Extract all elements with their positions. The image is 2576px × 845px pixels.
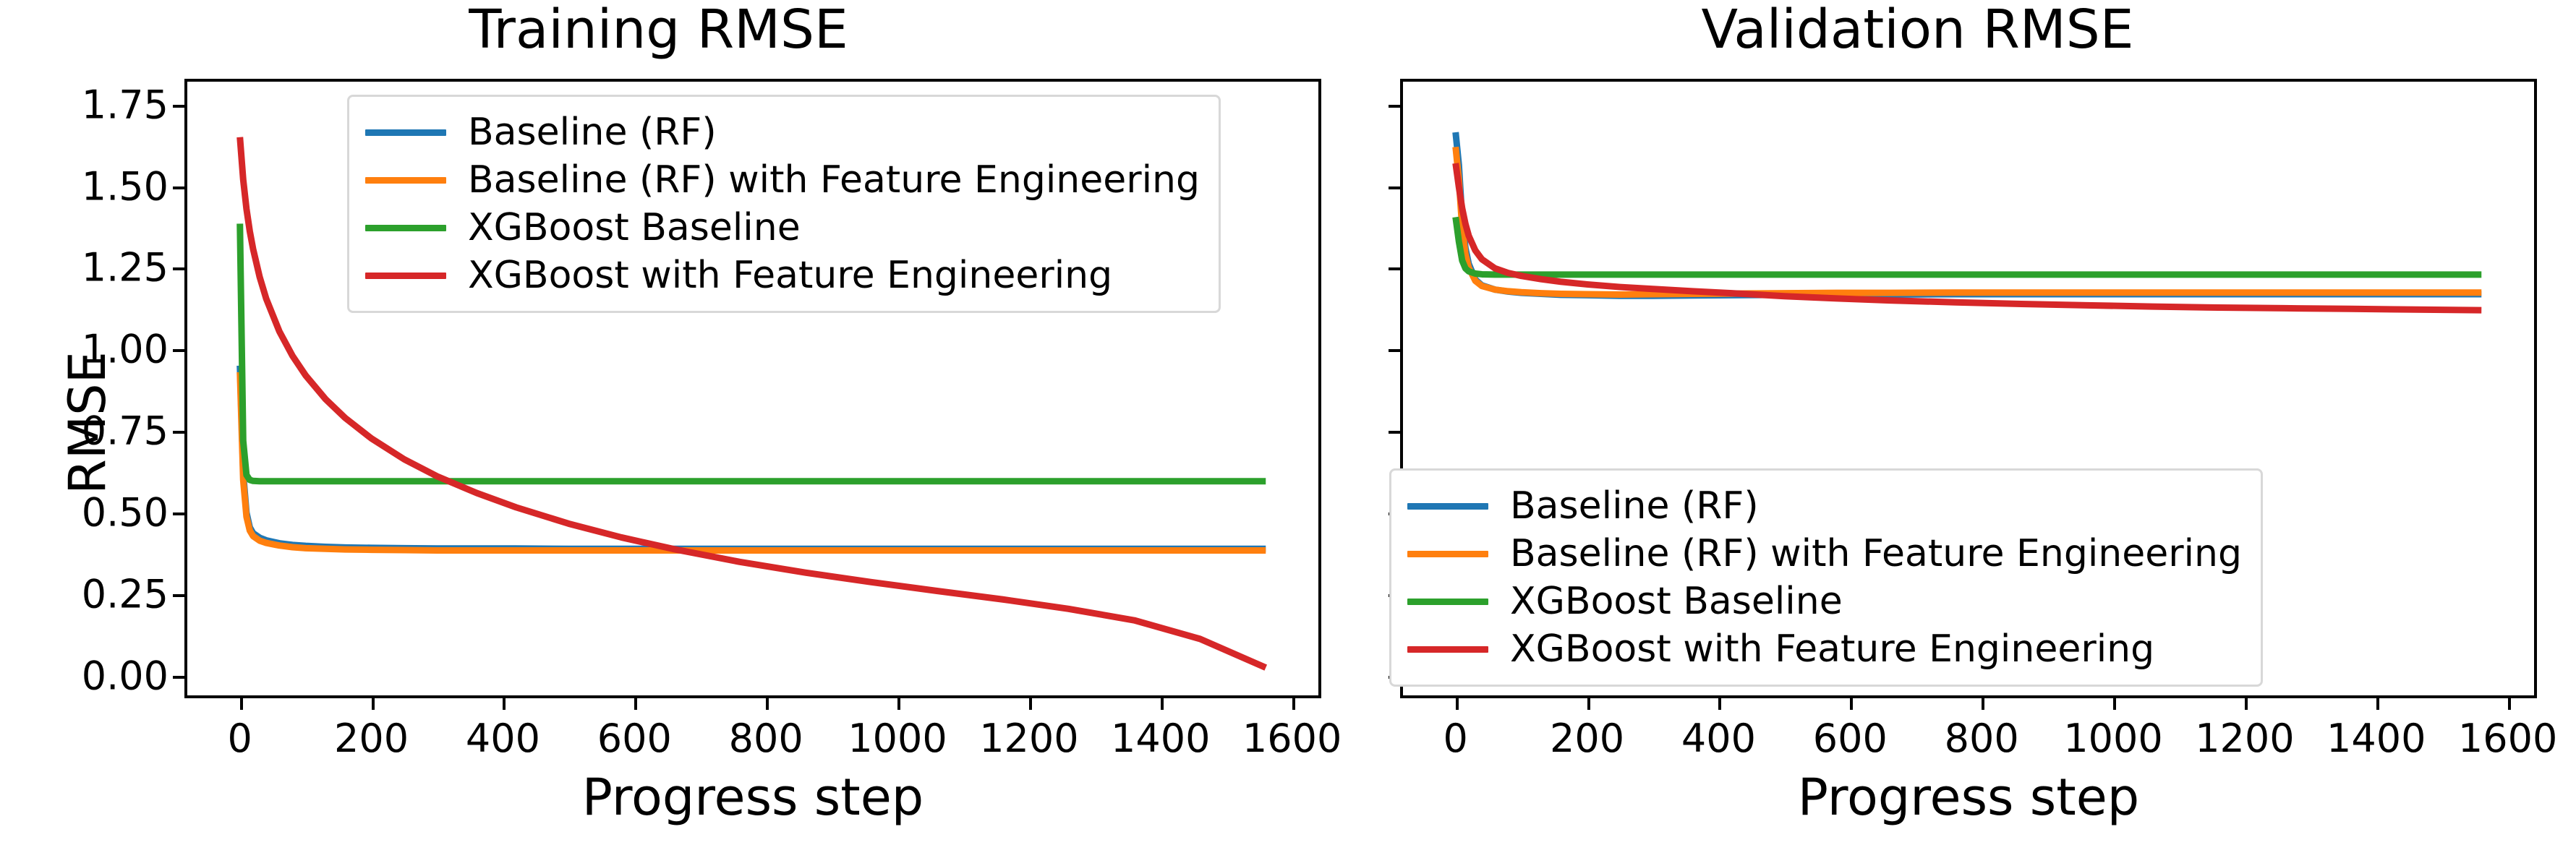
panel-title-validation: Validation RMSE xyxy=(1288,3,2547,56)
y-axis-tick-label: 0.75 xyxy=(82,408,169,454)
y-axis-tick xyxy=(173,512,187,515)
panel-validation: Validation RMSE 020040060080010001200140… xyxy=(1288,0,2576,845)
y-axis-tick xyxy=(173,594,187,597)
x-axis-tick xyxy=(2508,695,2511,710)
legend-entry[interactable]: XGBoost with Feature Engineering xyxy=(1407,625,2242,673)
x-axis-tick-label: 1200 xyxy=(2195,716,2294,761)
y-axis-tick-label: 1.75 xyxy=(82,82,169,127)
series-line xyxy=(1456,163,2482,310)
x-axis-tick xyxy=(1456,695,1459,710)
legend-color-swatch xyxy=(365,177,446,184)
y-axis-tick-label: 0.50 xyxy=(82,490,169,536)
y-axis-tick-label: 1.00 xyxy=(82,327,169,372)
x-axis-tick-label: 200 xyxy=(334,716,409,761)
y-axis-tick-label: 1.50 xyxy=(82,163,169,209)
x-axis-tick-label: 400 xyxy=(1681,716,1756,761)
x-axis-tick-label: 1000 xyxy=(2063,716,2162,761)
x-axis-tick xyxy=(897,695,900,710)
x-axis-tick-label: 1200 xyxy=(979,716,1078,761)
y-axis-tick xyxy=(173,349,187,352)
legend-color-swatch xyxy=(365,129,446,136)
y-axis-tick xyxy=(1389,349,1403,352)
series-line xyxy=(240,366,1266,549)
x-axis-tick xyxy=(1982,695,1984,710)
x-axis-tick-label: 800 xyxy=(1945,716,2019,761)
x-axis-tick-label: 600 xyxy=(597,716,672,761)
y-axis-tick-label: 1.25 xyxy=(82,245,169,291)
y-axis-tick xyxy=(173,267,187,270)
legend-entry[interactable]: Baseline (RF) with Feature Engineering xyxy=(365,156,1200,204)
legend-color-swatch xyxy=(1407,599,1488,605)
x-axis-tick-label: 1400 xyxy=(1111,716,1210,761)
y-axis-tick-label: 0.25 xyxy=(82,572,169,617)
x-axis-tick xyxy=(372,695,375,710)
x-axis-tick xyxy=(240,695,243,710)
legend-entry-label: XGBoost Baseline xyxy=(1510,583,1843,620)
legend-entry-label: XGBoost Baseline xyxy=(468,209,801,246)
x-axis-tick-label: 0 xyxy=(1443,716,1468,761)
x-axis-label-validation: Progress step xyxy=(1400,768,2537,827)
x-axis-tick xyxy=(1161,695,1164,710)
figure-canvas: Training RMSE RMSE 0.000.250.500.751.001… xyxy=(0,0,2576,845)
legend-validation: Baseline (RF)Baseline (RF) with Feature … xyxy=(1389,468,2263,687)
legend-training: Baseline (RF)Baseline (RF) with Feature … xyxy=(347,95,1221,313)
legend-entry-label: XGBoost with Feature Engineering xyxy=(468,257,1112,294)
series-line xyxy=(1456,132,2482,296)
legend-entry[interactable]: XGBoost with Feature Engineering xyxy=(365,252,1200,299)
legend-color-swatch xyxy=(365,225,446,231)
x-axis-tick xyxy=(1029,695,1032,710)
legend-entry-label: Baseline (RF) with Feature Engineering xyxy=(468,161,1200,199)
x-axis-tick-label: 1600 xyxy=(2458,716,2557,761)
y-axis-tick xyxy=(1389,105,1403,108)
x-axis-tick xyxy=(1850,695,1853,710)
y-axis-tick xyxy=(173,676,187,679)
legend-color-swatch xyxy=(1407,503,1488,510)
y-axis-tick xyxy=(173,186,187,189)
legend-entry-label: Baseline (RF) with Feature Engineering xyxy=(1510,535,2242,572)
legend-color-swatch xyxy=(1407,646,1488,653)
y-axis-tick xyxy=(1389,267,1403,270)
x-axis-tick xyxy=(1718,695,1721,710)
legend-entry-label: Baseline (RF) xyxy=(1510,487,1759,525)
legend-entry-label: Baseline (RF) xyxy=(468,113,717,151)
x-axis-tick-label: 1000 xyxy=(848,716,947,761)
y-axis-tick xyxy=(173,431,187,434)
x-axis-tick-label: 0 xyxy=(228,716,252,761)
legend-entry[interactable]: Baseline (RF) with Feature Engineering xyxy=(1407,530,2242,578)
legend-entry[interactable]: XGBoost Baseline xyxy=(365,204,1200,252)
y-axis-tick xyxy=(1389,186,1403,189)
y-axis-tick xyxy=(173,105,187,108)
x-axis-tick-label: 200 xyxy=(1550,716,1624,761)
x-axis-tick xyxy=(766,695,769,710)
y-axis-tick-label: 0.00 xyxy=(82,653,169,698)
x-axis-tick xyxy=(1587,695,1590,710)
x-axis-tick xyxy=(2113,695,2116,710)
x-axis-tick xyxy=(2245,695,2248,710)
x-axis-label-training: Progress step xyxy=(184,768,1321,827)
y-axis-tick xyxy=(1389,431,1403,434)
x-axis-tick xyxy=(503,695,506,710)
x-axis-tick xyxy=(2376,695,2379,710)
legend-entry[interactable]: Baseline (RF) xyxy=(1407,482,2242,530)
series-line xyxy=(240,372,1266,551)
x-axis-tick xyxy=(634,695,637,710)
x-axis-tick-label: 600 xyxy=(1813,716,1888,761)
x-axis-tick-label: 400 xyxy=(466,716,540,761)
legend-entry[interactable]: XGBoost Baseline xyxy=(1407,578,2242,625)
legend-color-swatch xyxy=(365,273,446,279)
legend-color-swatch xyxy=(1407,551,1488,557)
panel-training: Training RMSE RMSE 0.000.250.500.751.001… xyxy=(0,0,1288,845)
legend-entry[interactable]: Baseline (RF) xyxy=(365,108,1200,156)
x-axis-tick-label: 800 xyxy=(729,716,803,761)
x-axis-tick-label: 1400 xyxy=(2326,716,2426,761)
series-line xyxy=(1456,217,2482,274)
panel-title-training: Training RMSE xyxy=(29,3,1288,56)
legend-entry-label: XGBoost with Feature Engineering xyxy=(1510,630,2154,668)
